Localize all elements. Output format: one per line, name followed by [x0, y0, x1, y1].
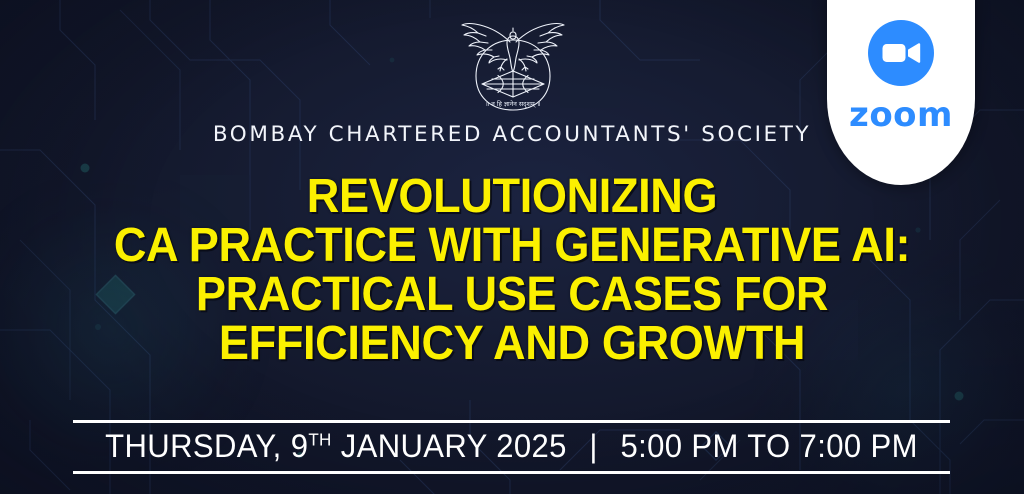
bcas-eagle-globe-logo: ॥ न हि ज्ञानेन सदृशम् ॥: [452, 14, 574, 114]
event-schedule-bar: THURSDAY, 9TH JANUARY 2025 | 5:00 PM TO …: [73, 420, 950, 474]
svg-text:॥ न हि ज्ञानेन सदृशम् ॥: ॥ न हि ज्ञानेन सदृशम् ॥: [485, 100, 540, 108]
schedule-time: 5:00 PM TO 7:00 PM: [620, 428, 917, 464]
schedule-separator: |: [576, 428, 612, 464]
headline-line-2: CA PRACTICE WITH GENERATIVE AI:: [31, 221, 994, 270]
zoom-camera-icon: [868, 20, 934, 86]
event-headline: REVOLUTIONIZING CA PRACTICE WITH GENERAT…: [0, 172, 1024, 368]
headline-line-4: EFFICIENCY AND GROWTH: [31, 319, 994, 368]
headline-line-1: REVOLUTIONIZING: [31, 172, 994, 221]
zoom-platform-badge: zoom: [827, 0, 975, 185]
headline-line-3: PRACTICAL USE CASES FOR: [31, 270, 994, 319]
schedule-rule-bottom: [73, 471, 950, 474]
event-promo-poster: zoom ॥ न हि ज्ञानेन सदृशम् ॥: [0, 0, 1024, 494]
zoom-wordmark: zoom: [849, 98, 953, 132]
schedule-day: THURSDAY,: [105, 428, 282, 464]
schedule-month-year: JANUARY 2025: [341, 428, 567, 464]
schedule-date-ordinal: TH: [308, 429, 331, 449]
schedule-text: THURSDAY, 9TH JANUARY 2025 | 5:00 PM TO …: [86, 423, 937, 471]
schedule-date-number: 9: [291, 428, 309, 464]
